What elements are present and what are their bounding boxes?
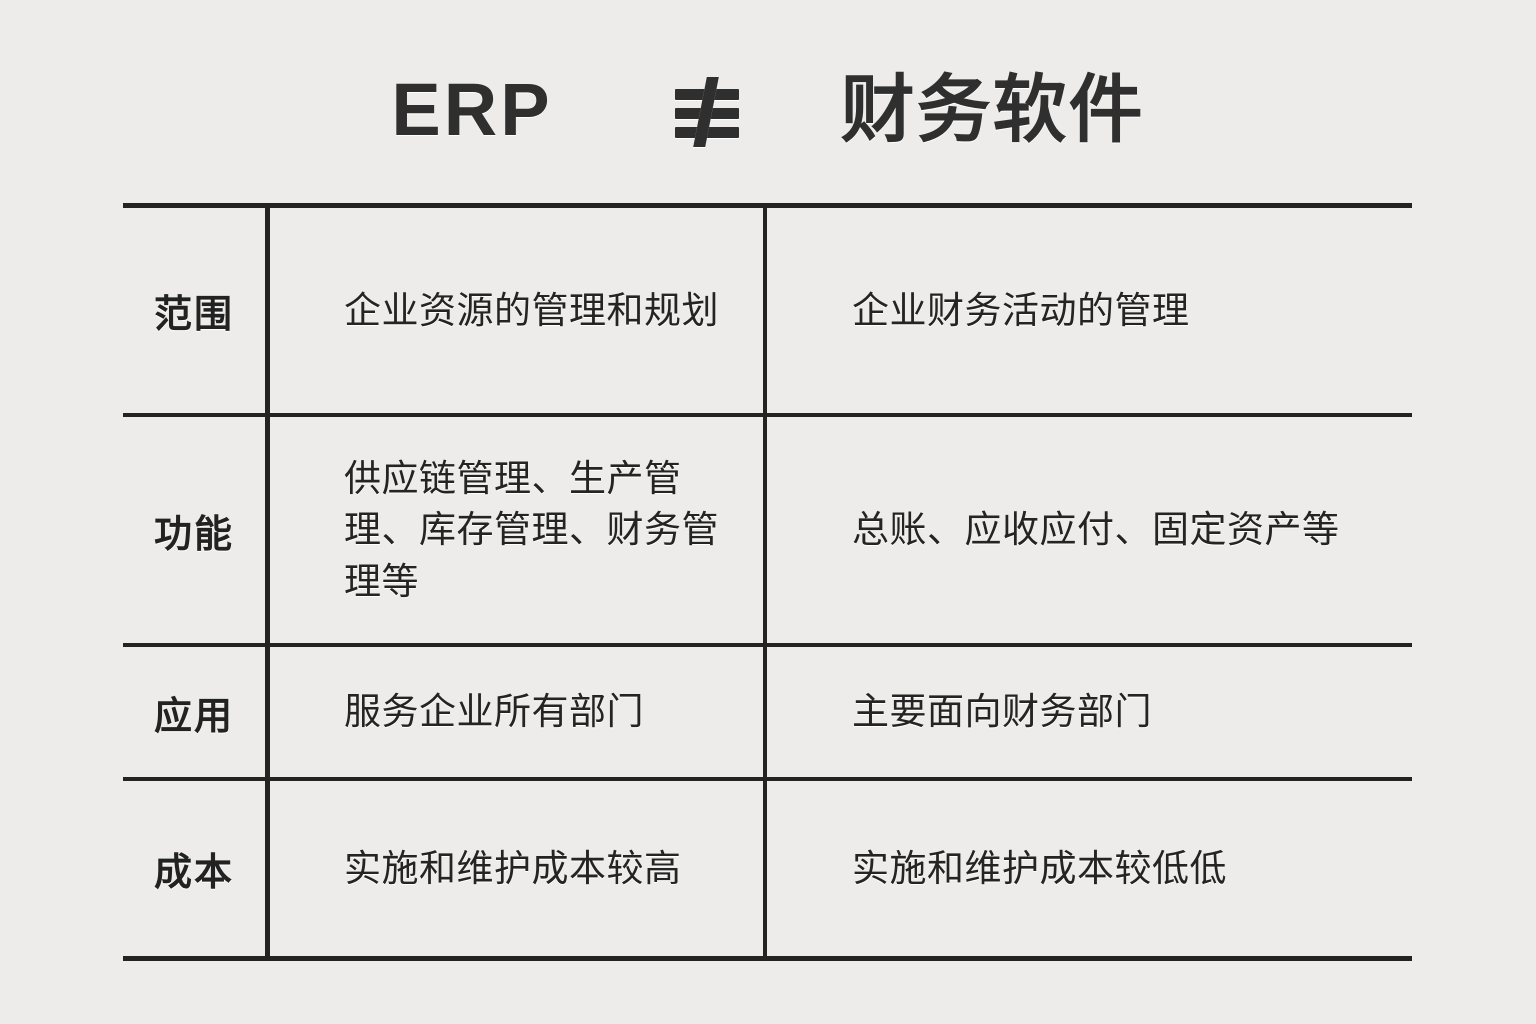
- erp-cell-text: 实施和维护成本较高: [344, 843, 682, 894]
- finance-cell: 总账、应收应付、固定资产等: [767, 417, 1412, 643]
- row-label: 功能: [154, 503, 234, 558]
- row-label-cell: 成本: [123, 781, 270, 956]
- erp-cell-text: 供应链管理、生产管理、库存管理、财务管理等: [344, 453, 745, 606]
- title-right-term: 财务软件: [841, 73, 1145, 147]
- table-row: 成本 实施和维护成本较高 实施和维护成本较低低: [123, 781, 1412, 956]
- erp-cell: 服务企业所有部门: [270, 647, 767, 777]
- erp-cell: 企业资源的管理和规划: [270, 208, 767, 413]
- row-label-cell: 应用: [123, 647, 270, 777]
- finance-cell-text: 主要面向财务部门: [852, 686, 1152, 737]
- comparison-infographic: ERP 财务软件 范围 企业资源的管理和规划 企业财务活动的管理 功能: [0, 0, 1536, 1024]
- row-label-cell: 功能: [123, 417, 270, 643]
- finance-cell-text: 总账、应收应付、固定资产等: [852, 504, 1340, 555]
- finance-cell-text: 实施和维护成本较低低: [852, 843, 1227, 894]
- table-row: 应用 服务企业所有部门 主要面向财务部门: [123, 647, 1412, 781]
- finance-cell: 实施和维护成本较低低: [767, 781, 1412, 956]
- erp-cell: 实施和维护成本较高: [270, 781, 767, 956]
- comparison-table: 范围 企业资源的管理和规划 企业财务活动的管理 功能 供应链管理、生产管理、库存…: [123, 203, 1412, 961]
- erp-cell-text: 企业资源的管理和规划: [344, 285, 719, 336]
- row-label: 成本: [154, 841, 234, 896]
- title-left-term: ERP: [391, 73, 552, 147]
- finance-cell: 主要面向财务部门: [767, 647, 1412, 777]
- erp-cell-text: 服务企业所有部门: [344, 686, 644, 737]
- row-label: 范围: [154, 283, 234, 338]
- table-row: 范围 企业资源的管理和规划 企业财务活动的管理: [123, 208, 1412, 417]
- erp-cell: 供应链管理、生产管理、库存管理、财务管理等: [270, 417, 767, 643]
- finance-cell-text: 企业财务活动的管理: [852, 285, 1190, 336]
- not-identical-icon: [669, 73, 745, 147]
- page-title: ERP 财务软件: [0, 62, 1536, 158]
- finance-cell: 企业财务活动的管理: [767, 208, 1412, 413]
- table-row: 功能 供应链管理、生产管理、库存管理、财务管理等 总账、应收应付、固定资产等: [123, 417, 1412, 647]
- row-label-cell: 范围: [123, 208, 270, 413]
- row-label: 应用: [154, 685, 234, 740]
